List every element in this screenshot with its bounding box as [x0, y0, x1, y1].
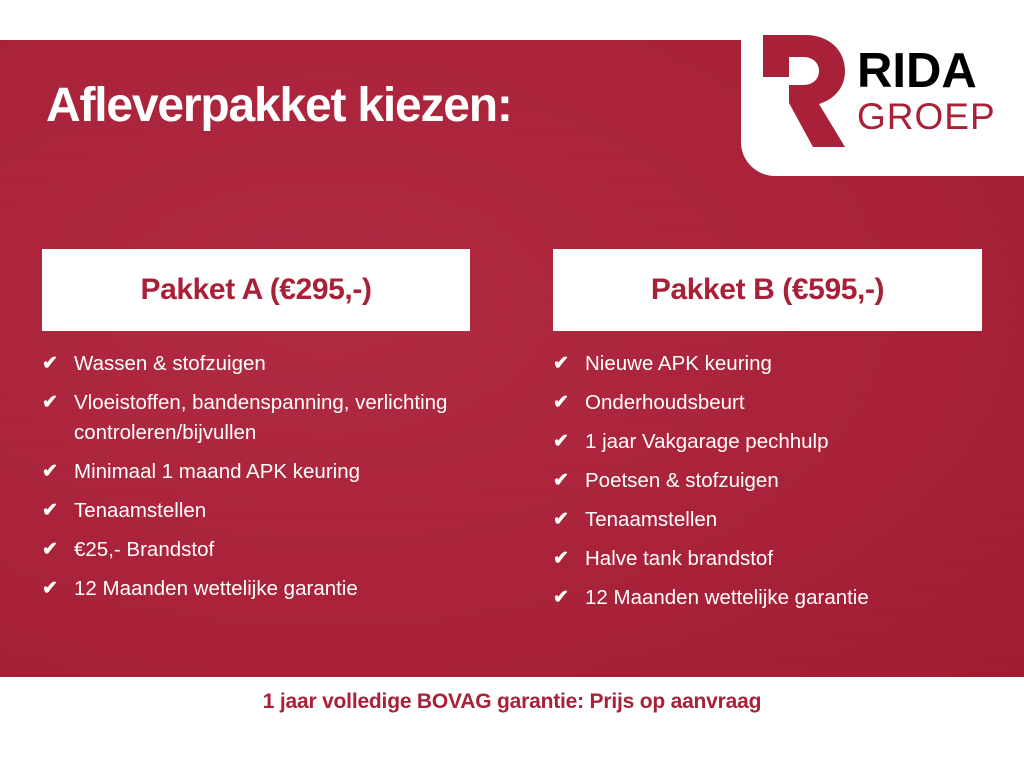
check-icon: ✔: [42, 574, 68, 604]
feature-text: Tenaamstellen: [74, 496, 470, 526]
list-item: ✔ Wassen & stofzuigen: [42, 349, 470, 379]
logo-groep-text: GROEP: [857, 98, 996, 135]
list-item: ✔ 12 Maanden wettelijke garantie: [42, 574, 470, 604]
check-icon: ✔: [553, 544, 579, 574]
list-item: ✔ €25,- Brandstof: [42, 535, 470, 565]
feature-text: Vloeistoffen, bandenspanning, verlichtin…: [74, 388, 470, 448]
package-b-header-card[interactable]: Pakket B (€595,-): [553, 249, 982, 331]
feature-text: Poetsen & stofzuigen: [585, 466, 982, 496]
page-title: Afleverpakket kiezen:: [46, 78, 512, 133]
logo-wordmark: RIDA GROEP: [857, 47, 996, 135]
check-icon: ✔: [553, 583, 579, 613]
check-icon: ✔: [553, 466, 579, 496]
feature-text: 12 Maanden wettelijke garantie: [74, 574, 470, 604]
package-column-b: Pakket B (€595,-) ✔ Nieuwe APK keuring ✔…: [553, 249, 982, 622]
list-item: ✔ Halve tank brandstof: [553, 544, 982, 574]
package-b-feature-list: ✔ Nieuwe APK keuring ✔ Onderhoudsbeurt ✔…: [553, 349, 982, 613]
package-a-header-card[interactable]: Pakket A (€295,-): [42, 249, 470, 331]
feature-text: Halve tank brandstof: [585, 544, 982, 574]
feature-text: 1 jaar Vakgarage pechhulp: [585, 427, 982, 457]
list-item: ✔ Nieuwe APK keuring: [553, 349, 982, 379]
list-item: ✔ 12 Maanden wettelijke garantie: [553, 583, 982, 613]
check-icon: ✔: [553, 427, 579, 457]
feature-text: Wassen & stofzuigen: [74, 349, 470, 379]
feature-text: Minimaal 1 maand APK keuring: [74, 457, 470, 487]
package-a-title: Pakket A (€295,-): [140, 273, 371, 307]
footer-band: 1 jaar volledige BOVAG garantie: Prijs o…: [0, 677, 1024, 768]
slide-root: RIDA GROEP Afleverpakket kiezen: Pakket …: [0, 0, 1024, 768]
check-icon: ✔: [42, 349, 68, 379]
list-item: ✔ Minimaal 1 maand APK keuring: [42, 457, 470, 487]
package-a-feature-list: ✔ Wassen & stofzuigen ✔ Vloeistoffen, ba…: [42, 349, 470, 604]
list-item: ✔ Vloeistoffen, bandenspanning, verlicht…: [42, 388, 470, 448]
check-icon: ✔: [553, 388, 579, 418]
logo-plate: RIDA GROEP: [741, 0, 1024, 176]
feature-text: €25,- Brandstof: [74, 535, 470, 565]
logo-inner: RIDA GROEP: [741, 0, 1024, 176]
feature-text: Onderhoudsbeurt: [585, 388, 982, 418]
list-item: ✔ Onderhoudsbeurt: [553, 388, 982, 418]
feature-text: Tenaamstellen: [585, 505, 982, 535]
feature-text: 12 Maanden wettelijke garantie: [585, 583, 982, 613]
footer-note: 1 jaar volledige BOVAG garantie: Prijs o…: [0, 690, 1024, 714]
check-icon: ✔: [553, 349, 579, 379]
rida-r-monogram-icon: [755, 33, 847, 149]
list-item: ✔ 1 jaar Vakgarage pechhulp: [553, 427, 982, 457]
check-icon: ✔: [42, 535, 68, 565]
list-item: ✔ Poetsen & stofzuigen: [553, 466, 982, 496]
list-item: ✔ Tenaamstellen: [42, 496, 470, 526]
check-icon: ✔: [553, 505, 579, 535]
logo-rida-text: RIDA: [857, 47, 996, 96]
check-icon: ✔: [42, 496, 68, 526]
feature-text: Nieuwe APK keuring: [585, 349, 982, 379]
list-item: ✔ Tenaamstellen: [553, 505, 982, 535]
package-column-a: Pakket A (€295,-) ✔ Wassen & stofzuigen …: [42, 249, 470, 613]
check-icon: ✔: [42, 388, 68, 418]
package-b-title: Pakket B (€595,-): [651, 273, 884, 307]
check-icon: ✔: [42, 457, 68, 487]
